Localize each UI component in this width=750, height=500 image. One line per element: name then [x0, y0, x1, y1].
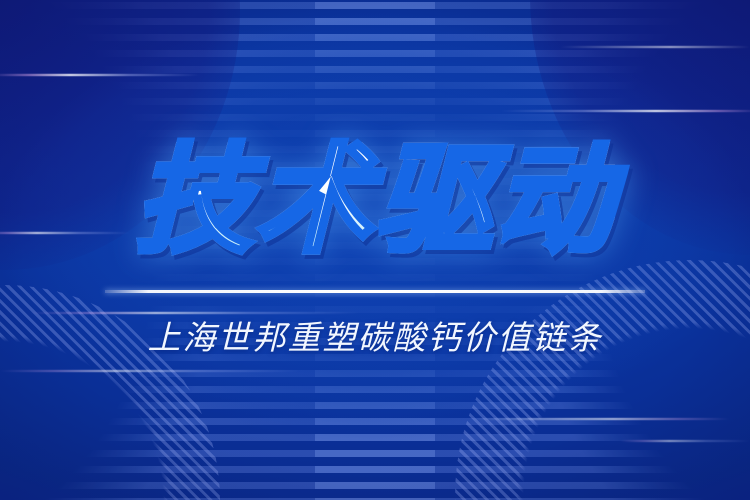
banner-headline: 技术驱动	[135, 142, 615, 266]
promo-banner: 技术驱动 上海世邦重塑碳酸钙价值链条	[0, 0, 750, 500]
banner-content: 技术驱动 上海世邦重塑碳酸钙价值链条	[0, 0, 750, 500]
headline-divider	[105, 290, 645, 293]
banner-subtitle: 上海世邦重塑碳酸钙价值链条	[148, 311, 603, 359]
